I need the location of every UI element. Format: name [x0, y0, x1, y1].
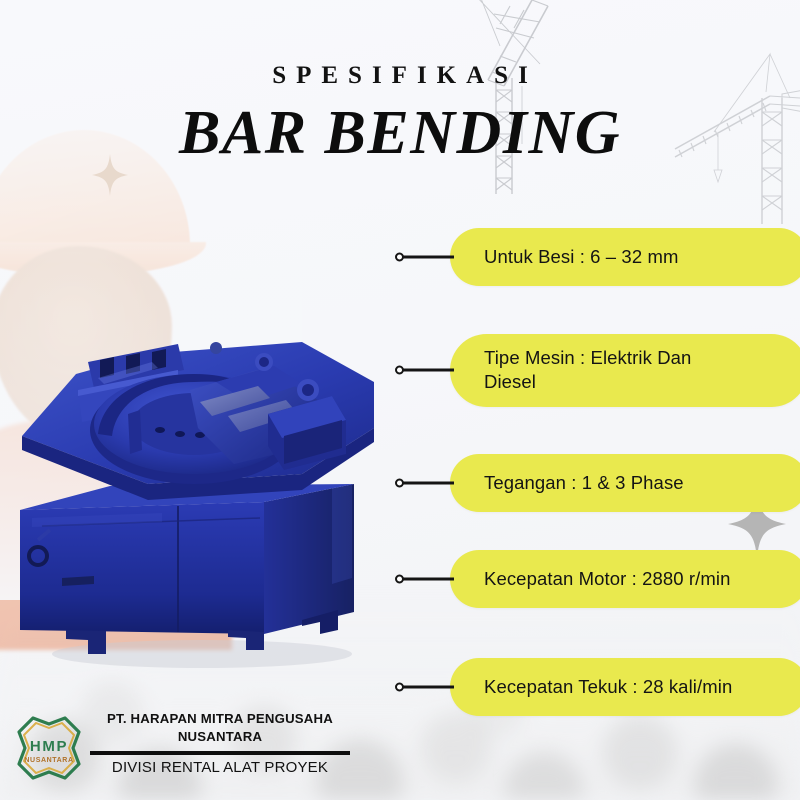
company-logo[interactable]: HMP NUSANTARA	[12, 714, 86, 784]
division-name: DIVISI RENTAL ALAT PROYEK	[90, 759, 350, 776]
spec-connector	[395, 364, 450, 376]
spec-connector	[395, 681, 450, 693]
spec-pill[interactable]: Tipe Mesin : Elektrik Dan Diesel	[450, 334, 800, 407]
company-name-line1: PT. HARAPAN MITRA PENGUSAHA	[90, 710, 350, 728]
poster-canvas: SPESIFIKASI BAR BENDING	[0, 0, 800, 800]
spec-label: Kecepatan Motor : 2880 r/min	[484, 567, 731, 591]
footer: HMP NUSANTARA PT. HARAPAN MITRA PENGUSAH…	[0, 706, 410, 792]
spec-label: Tipe Mesin : Elektrik Dan Diesel	[484, 346, 712, 395]
logo-sub-text: NUSANTARA	[24, 757, 73, 764]
spec-connector	[395, 477, 450, 489]
spec-label: Kecepatan Tekuk : 28 kali/min	[484, 675, 732, 699]
spec-pill[interactable]: Untuk Besi : 6 – 32 mm	[450, 228, 800, 286]
connector-line-icon	[402, 686, 454, 689]
connector-dot-icon	[395, 683, 404, 692]
footer-text-block: PT. HARAPAN MITRA PENGUSAHA NUSANTARA DI…	[90, 710, 350, 776]
company-name-line2: NUSANTARA	[90, 728, 350, 746]
connector-line-icon	[402, 578, 454, 581]
connector-dot-icon	[395, 366, 404, 375]
spec-label: Untuk Besi : 6 – 32 mm	[484, 245, 678, 269]
spec-label: Tegangan : 1 & 3 Phase	[484, 471, 684, 495]
spec-item-tipe-mesin[interactable]: Tipe Mesin : Elektrik Dan Diesel	[395, 334, 800, 407]
logo-mark-text: HMP	[30, 738, 68, 755]
spec-connector	[395, 573, 450, 585]
connector-dot-icon	[395, 253, 404, 262]
spec-pill[interactable]: Kecepatan Motor : 2880 r/min	[450, 550, 800, 608]
connector-line-icon	[402, 482, 454, 485]
spec-list: Untuk Besi : 6 – 32 mm Tipe Mesin : Elek…	[395, 0, 800, 800]
connector-dot-icon	[395, 479, 404, 488]
connector-line-icon	[402, 256, 454, 259]
bar-bending-machine-photo	[2, 278, 394, 670]
footer-divider	[90, 751, 350, 755]
spec-pill[interactable]: Kecepatan Tekuk : 28 kali/min	[450, 658, 800, 716]
spec-pill[interactable]: Tegangan : 1 & 3 Phase	[450, 454, 800, 512]
connector-line-icon	[402, 369, 454, 372]
spec-item-tegangan[interactable]: Tegangan : 1 & 3 Phase	[395, 454, 800, 512]
spec-connector	[395, 251, 450, 263]
spec-item-untuk-besi[interactable]: Untuk Besi : 6 – 32 mm	[395, 228, 800, 286]
connector-dot-icon	[395, 575, 404, 584]
spec-item-kecepatan-motor[interactable]: Kecepatan Motor : 2880 r/min	[395, 550, 800, 608]
spec-item-kecepatan-tekuk[interactable]: Kecepatan Tekuk : 28 kali/min	[395, 658, 800, 716]
